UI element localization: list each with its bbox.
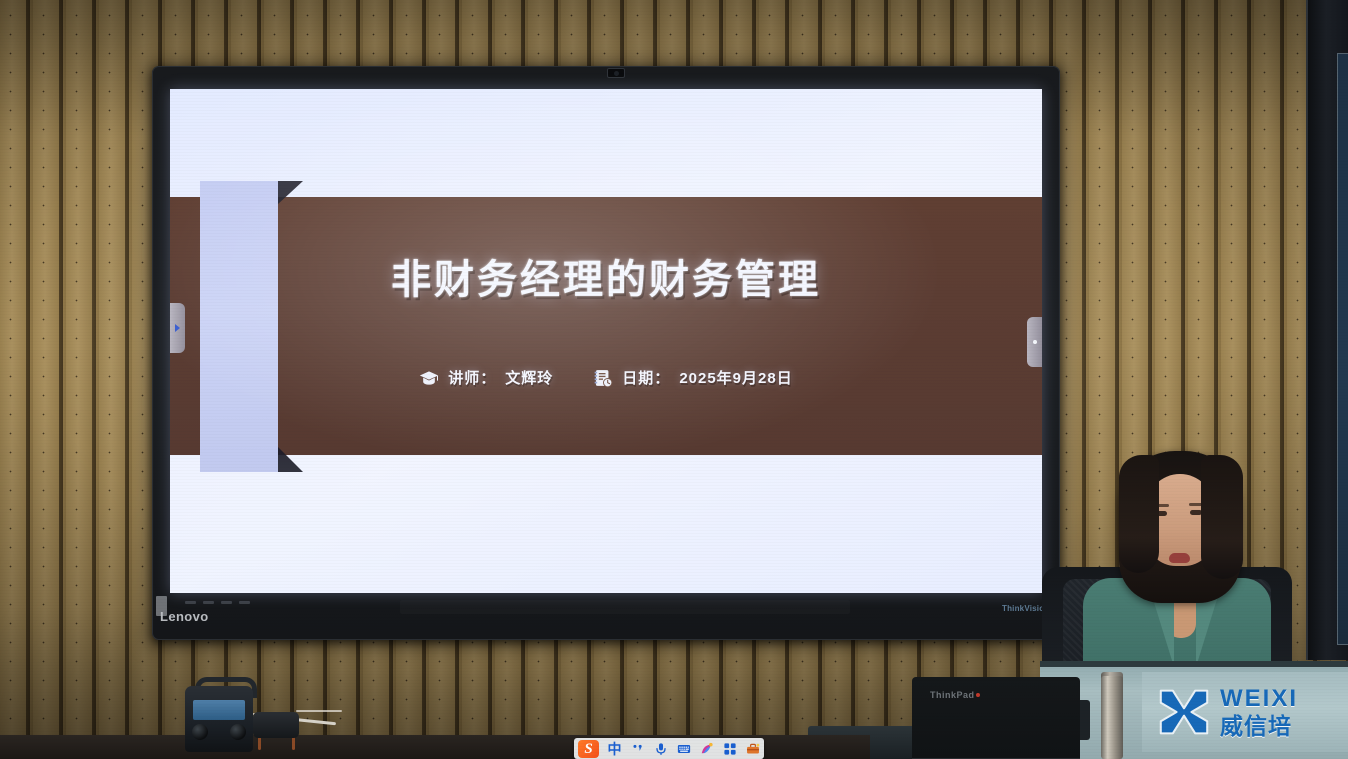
toolbox-icon[interactable] bbox=[745, 739, 760, 758]
slide-ribbon-accent bbox=[200, 181, 278, 472]
slide-title: 非财务经理的财务管理 bbox=[170, 247, 1042, 305]
graduation-cap-icon bbox=[419, 368, 439, 388]
slide-meta-instructor: 讲师： 文辉玲 bbox=[419, 367, 553, 388]
logo-text-en: WEIXI bbox=[1220, 687, 1298, 711]
display-camera-icon bbox=[607, 68, 625, 78]
rc-stick-right[interactable] bbox=[230, 724, 246, 740]
ribbon-fold-bottom-shadow bbox=[277, 446, 303, 472]
secondary-monitor-screen[interactable] bbox=[1337, 53, 1348, 645]
quadcopter-drone bbox=[253, 712, 299, 738]
slide-brown-banner bbox=[170, 197, 1042, 455]
calendar-clock-icon bbox=[593, 368, 613, 388]
vacuum-flask bbox=[1101, 676, 1123, 759]
date-label: 日期： bbox=[622, 367, 670, 388]
display-hardware-buttons[interactable] bbox=[185, 601, 275, 605]
skin-theme-icon[interactable] bbox=[699, 739, 714, 758]
drone-leg-right bbox=[292, 737, 295, 750]
expand-left-tab[interactable] bbox=[170, 303, 185, 353]
sogou-ime-toolbar[interactable]: S 中 bbox=[574, 738, 764, 759]
lenovo-logo: Lenovo bbox=[160, 609, 209, 624]
soft-keyboard-icon[interactable] bbox=[676, 739, 691, 758]
voice-input-icon[interactable] bbox=[653, 739, 668, 758]
date-value: 2025年9月28日 bbox=[679, 367, 792, 388]
instructor-label: 讲师： bbox=[448, 367, 496, 388]
rc-stick-left[interactable] bbox=[192, 724, 208, 740]
presenter-hair-right-strand bbox=[1201, 455, 1243, 579]
app-grid-icon[interactable] bbox=[722, 739, 737, 758]
presenter-mouth bbox=[1169, 553, 1190, 563]
logo-text-cn: 威信培 bbox=[1220, 715, 1298, 738]
punctuation-toggle[interactable] bbox=[630, 739, 645, 758]
display-speaker-grille bbox=[400, 600, 850, 614]
presentation-screen[interactable]: 非财务经理的财务管理 讲师： 文辉玲 bbox=[170, 89, 1042, 593]
desk-logo-banner: WEIXI 威信培 bbox=[1142, 672, 1348, 752]
drone-propeller-right bbox=[296, 710, 342, 712]
rc-display bbox=[193, 700, 245, 720]
language-mode-toggle[interactable]: 中 bbox=[607, 739, 622, 758]
weixi-logo-text: WEIXI 威信培 bbox=[1220, 687, 1298, 738]
drone-leg-left bbox=[258, 737, 261, 750]
instructor-name: 文辉玲 bbox=[505, 367, 553, 388]
presenter-hair-left-strand bbox=[1119, 455, 1159, 573]
expand-right-tab[interactable] bbox=[1027, 317, 1042, 367]
slide-meta-row: 讲师： 文辉玲 bbox=[170, 367, 1042, 388]
sogou-logo-icon[interactable]: S bbox=[578, 740, 599, 758]
desk-front-edge bbox=[1040, 661, 1348, 667]
ribbon-fold-top-shadow bbox=[277, 181, 303, 205]
dot-icon bbox=[1033, 340, 1037, 344]
weixi-logo-icon bbox=[1156, 686, 1212, 738]
lecture-capture-scene: Lenovo ThinkVision 非财务经理的财务管理 讲师： 文辉玲 bbox=[0, 0, 1348, 759]
thinkpad-logo: ThinkPad bbox=[930, 690, 980, 700]
slide-meta-date: 日期： 2025年9月28日 bbox=[593, 367, 792, 388]
chevron-right-icon bbox=[175, 324, 180, 332]
